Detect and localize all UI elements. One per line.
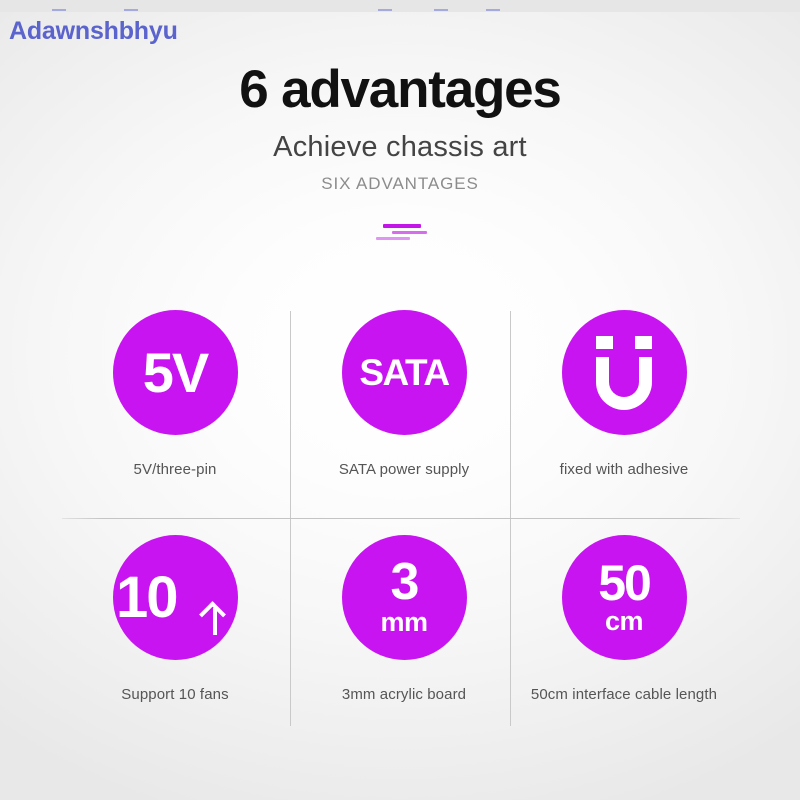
badge-ten-number: 10 [116, 567, 177, 629]
badge-magnet-umlaut-icon [562, 310, 687, 435]
feature-caption-cable-length: 50cm interface cable length [511, 686, 737, 703]
divider-bar-2 [392, 231, 427, 234]
badge-ten-glyph: 10 [116, 567, 234, 629]
badge-10-fans-icon: 10 [113, 535, 238, 660]
badge-3mm-icon: 3 mm [342, 535, 467, 660]
promo-banner: Adawnshbhyu 6 advantages Achieve chassis… [0, 0, 800, 800]
badge-3mm-glyph: 3 mm [380, 559, 427, 636]
arrow-head [199, 601, 226, 628]
top-strip-marks [0, 9, 800, 12]
badge-3mm-number: 3 [391, 559, 418, 607]
divider-bar-1 [383, 224, 421, 228]
badge-umlaut-glyph [591, 336, 657, 410]
feature-caption-voltage: 5V/three-pin [62, 461, 288, 478]
umlaut-dot-right [635, 336, 652, 349]
divider-bar-3 [376, 237, 410, 240]
feature-cell-voltage: 5V 5V/three-pin [62, 310, 288, 478]
feature-caption-thickness: 3mm acrylic board [291, 686, 517, 703]
ten-with-arrow: 10 [116, 567, 234, 629]
decorative-divider [0, 224, 800, 246]
badge-sata-icon: SATA [342, 310, 467, 435]
page-eyebrow: SIX ADVANTAGES [0, 174, 800, 194]
top-edge-strip [0, 0, 800, 12]
badge-50cm-unit: cm [605, 608, 643, 635]
badge-3mm-unit: mm [380, 609, 427, 636]
watermark-seller-name: Adawnshbhyu [9, 17, 178, 46]
badge-5v-icon: 5V [113, 310, 238, 435]
feature-cell-fan-count: 10 Support 10 fans [62, 535, 288, 703]
feature-caption-power: SATA power supply [291, 461, 517, 478]
page-title: 6 advantages [0, 62, 800, 118]
badge-50cm-icon: 50 cm [562, 535, 687, 660]
feature-cell-mounting: fixed with adhesive [511, 310, 737, 478]
badge-50cm-number: 50 [598, 560, 650, 606]
feature-cell-power: SATA SATA power supply [291, 310, 517, 478]
badge-5v-glyph-text: 5V [143, 345, 208, 401]
header-block: 6 advantages Achieve chassis art SIX ADV… [0, 62, 800, 194]
feature-cell-cable-length: 50 cm 50cm interface cable length [511, 535, 737, 703]
umlaut-dot-left [596, 336, 613, 349]
feature-grid: 5V 5V/three-pin SATA SATA power supply [62, 300, 740, 732]
feature-cell-thickness: 3 mm 3mm acrylic board [291, 535, 517, 703]
umlaut-shape [591, 336, 657, 410]
feature-caption-fan-count: Support 10 fans [62, 686, 288, 703]
arrow-up-icon [200, 601, 230, 635]
page-subtitle: Achieve chassis art [0, 131, 800, 164]
feature-caption-mounting: fixed with adhesive [511, 461, 737, 478]
grid-divider-horizontal [62, 518, 740, 519]
badge-50cm-glyph: 50 cm [598, 560, 650, 635]
umlaut-u-stroke [596, 357, 652, 410]
badge-sata-glyph-text: SATA [359, 354, 448, 391]
